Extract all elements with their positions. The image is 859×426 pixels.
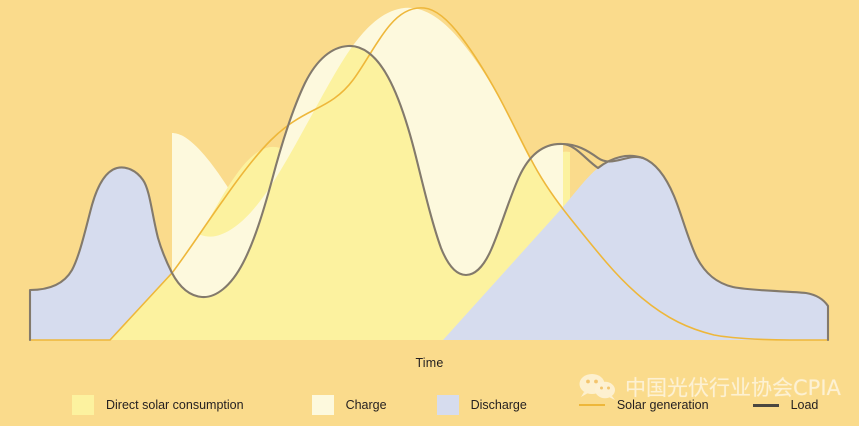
chart-plot-area [0,0,859,426]
legend-label-discharge: Discharge [471,398,527,412]
solar-load-chart: Time Direct solar consumption Charge Dis… [0,0,859,426]
legend-item-direct-solar-consumption[interactable]: Direct solar consumption [72,395,244,415]
legend-line-load-icon [753,404,779,407]
legend-line-solar-generation-icon [579,404,605,406]
legend-label-charge: Charge [346,398,387,412]
legend-swatch-charge-icon [312,395,334,415]
legend-swatch-direct-solar-icon [72,395,94,415]
chart-legend: Direct solar consumption Charge Discharg… [0,392,859,418]
legend-item-discharge[interactable]: Discharge [437,395,527,415]
legend-item-solar-generation[interactable]: Solar generation [579,398,709,412]
legend-item-load[interactable]: Load [753,398,819,412]
legend-item-charge[interactable]: Charge [312,395,387,415]
legend-label-solar-generation: Solar generation [617,398,709,412]
legend-label-direct-solar-consumption: Direct solar consumption [106,398,244,412]
legend-label-load: Load [791,398,819,412]
legend-swatch-discharge-icon [437,395,459,415]
